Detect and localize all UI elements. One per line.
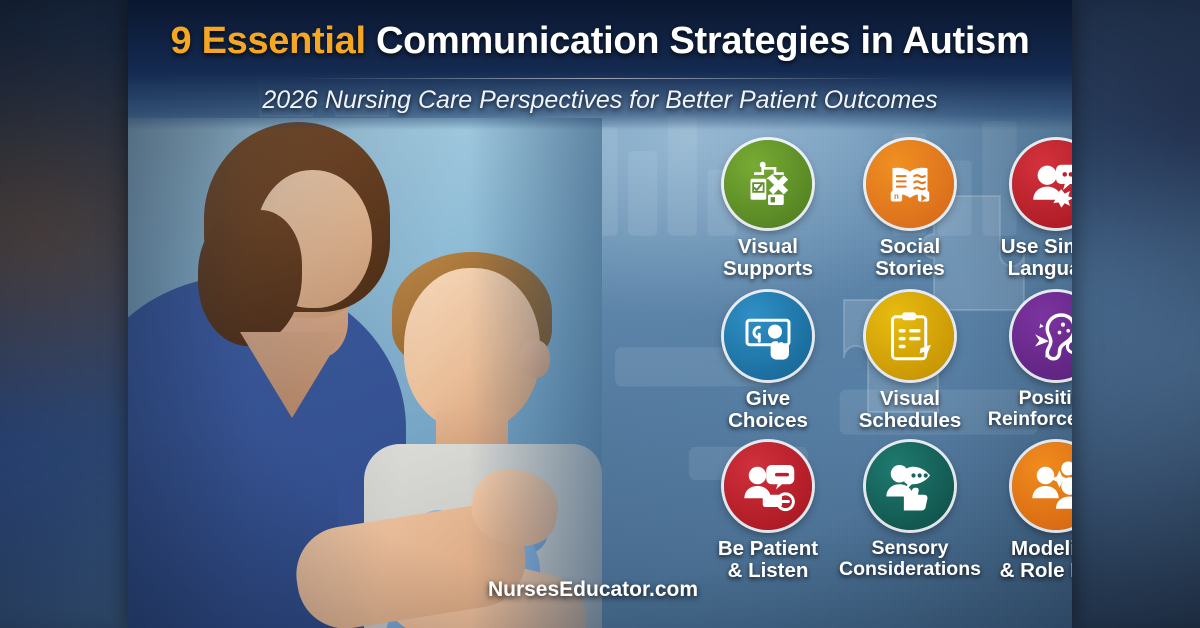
positive-reinforcement-circle[interactable] bbox=[1012, 292, 1072, 380]
strategy-item-visual-supports[interactable]: Visual Supports bbox=[688, 140, 848, 280]
strategy-item-positive-reinforcement[interactable]: Positive Reinforcement bbox=[976, 292, 1072, 430]
strategy-label: Modeling & Role Play bbox=[976, 538, 1072, 582]
visual-schedules-circle[interactable] bbox=[866, 292, 954, 380]
svg-text:n: n bbox=[894, 192, 899, 201]
page-title: 9 Essential Communication Strategies in … bbox=[128, 20, 1072, 63]
infographic-card: 9 Essential Communication Strategies in … bbox=[128, 0, 1072, 628]
page-subtitle: 2026 Nursing Care Perspectives for Bette… bbox=[128, 86, 1072, 115]
use-simple-language-circle[interactable] bbox=[1012, 140, 1072, 228]
strategy-label: Positive Reinforcement bbox=[976, 388, 1072, 430]
strategy-label: Social Stories bbox=[830, 236, 990, 280]
give-choices-circle[interactable] bbox=[724, 292, 812, 380]
person-speech-bubble-icon bbox=[1028, 156, 1072, 212]
thumbs-up-chat-icon bbox=[882, 458, 938, 514]
strategy-grid: Visual Supports n bbox=[590, 140, 1072, 610]
be-patient-circle[interactable] bbox=[724, 442, 812, 530]
strategy-item-use-simple-language[interactable]: Use Simple Language bbox=[976, 140, 1072, 280]
strategy-label: Use Simple Language bbox=[976, 236, 1072, 280]
strategy-item-sensory-considerations[interactable]: Sensory Considerations bbox=[830, 442, 990, 580]
strategy-label: Give Choices bbox=[688, 388, 848, 432]
sensory-considerations-circle[interactable] bbox=[866, 442, 954, 530]
strategy-item-modeling-and-role-play[interactable]: Modeling & Role Play bbox=[976, 442, 1072, 582]
social-stories-circle[interactable]: n bbox=[866, 140, 954, 228]
visual-supports-icon bbox=[740, 156, 796, 212]
strategy-label: Visual Supports bbox=[688, 236, 848, 280]
modeling-role-play-circle[interactable] bbox=[1012, 442, 1072, 530]
two-people-sparkle-icon bbox=[1028, 458, 1072, 514]
clipboard-checklist-icon bbox=[882, 308, 938, 364]
visual-supports-circle[interactable] bbox=[724, 140, 812, 228]
title-accent: 9 Essential bbox=[170, 20, 365, 62]
infographic-canvas: 9 Essential Communication Strategies in … bbox=[0, 0, 1200, 628]
title-rest: Communication Strategies in Autism bbox=[366, 20, 1030, 62]
header-divider bbox=[296, 78, 904, 79]
strategy-label: Sensory Considerations bbox=[830, 538, 990, 580]
choice-tap-icon bbox=[740, 308, 796, 364]
open-book-icon: n bbox=[882, 156, 938, 212]
ear-sparkle-icon bbox=[1028, 308, 1072, 364]
listening-person-icon bbox=[740, 458, 796, 514]
strategy-label: Visual Schedules bbox=[830, 388, 990, 432]
site-url[interactable]: NursesEducator.com bbox=[428, 578, 758, 602]
strategy-label: Be Patient & Listen bbox=[688, 538, 848, 582]
strategy-item-give-choices[interactable]: Give Choices bbox=[688, 292, 848, 432]
strategy-item-visual-schedules[interactable]: Visual Schedules bbox=[830, 292, 990, 432]
strategy-item-social-stories[interactable]: n Social Stories bbox=[830, 140, 990, 280]
strategy-item-be-patient-and-listen[interactable]: Be Patient & Listen bbox=[688, 442, 848, 582]
